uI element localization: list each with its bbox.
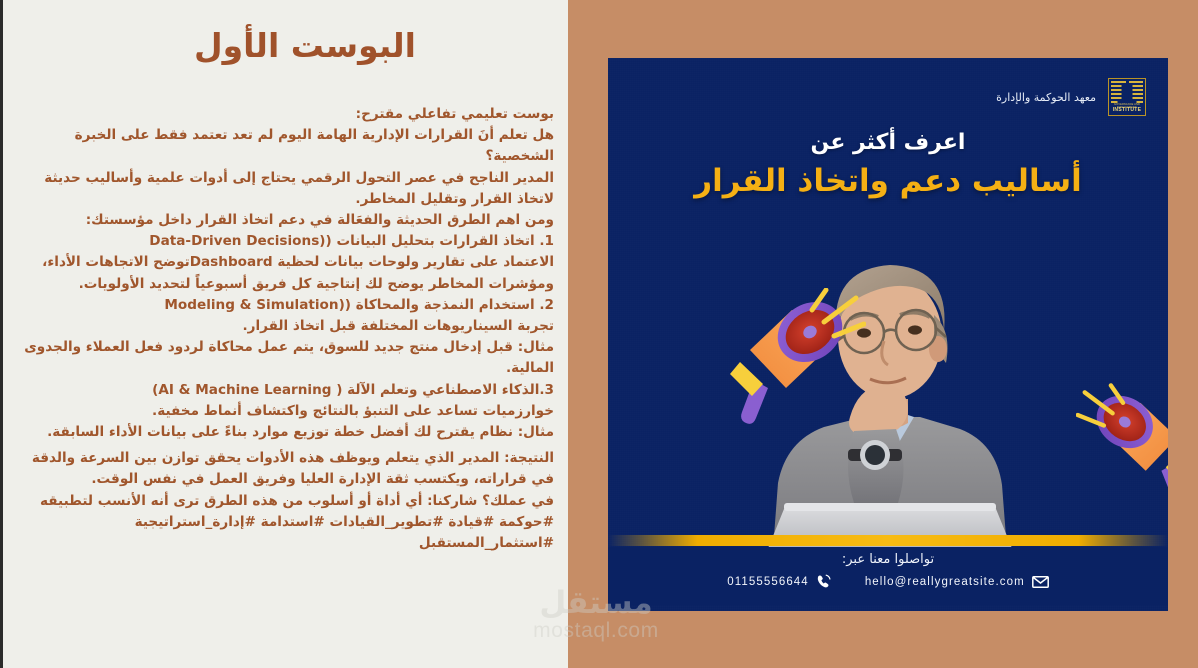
contact-phone-text: 01155556644 [727,576,809,588]
contact-phone-item[interactable]: 01155556644 [727,574,831,589]
person-watch-face [865,445,885,465]
caption-hashtags-line: #استثمار_المستقبل [10,533,554,554]
logo-institute-word: INSTITUTE [1110,107,1144,113]
poster-header: GOVERNANCE AND MANAGEMENT INSTITUTE معهد… [630,78,1146,116]
caption-panel: البوست الأول بوست تعليمي تفاعلي مقترح: ه… [0,0,568,668]
caption-body: بوست تعليمي تفاعلي مقترح: هل تعلم أنَ ال… [10,104,554,554]
caption-line: خوارزميات تساعد على التنبؤ بالنتائج واكت… [10,401,554,422]
caption-line: هل تعلم أنَ القرارات الإدارية الهامة الي… [10,125,554,167]
caption-line: بوست تعليمي تفاعلي مقترح: [10,104,554,125]
institute-name: معهد الحوكمة والإدارة [996,91,1096,104]
poster-headline-block: اعرف أكثر عن أساليب دعم واتخاذ القرار [608,130,1168,199]
poster-contact-footer: تواصلوا معنا عبر: hello@reallygreatsite.… [608,547,1168,605]
megaphone-icon-left [726,288,866,438]
contact-title: تواصلوا معنا عبر: [608,552,1168,567]
contact-row: hello@reallygreatsite.com 01155556644 [608,574,1168,589]
caption-line: 3.الذكاء الاصطناعي وتعلم الآلة ( AI & Ma… [10,380,554,401]
poster-kicker: اعرف أكثر عن [608,130,1168,155]
person-ear [929,336,947,362]
envelope-icon [1032,576,1049,588]
caption-line: 2. استخدام النمذجة والمحاكاة ((Modeling … [10,295,554,316]
caption-line: مثال: قبل إدخال منتج جديد للسوق، يتم عمل… [10,337,554,379]
megaphone-handle [1161,464,1168,502]
caption-line: ومن اهم الطرق الحديثة والفعَالة في دعم ا… [10,210,554,231]
caption-line: 1. اتخاذ القرارات بتحليل البيانات ((Data… [10,231,554,252]
caption-line: المدير الناجح في عصر التحول الرقمي يحتاج… [10,168,554,210]
logo-tower-shape [1122,85,1133,104]
caption-hashtags-line: #حوكمة #قيادة #تطوير_القيادات #استدامة #… [10,512,554,533]
page-title: البوست الأول [194,26,416,65]
poster-stage: GOVERNANCE AND MANAGEMENT INSTITUTE معهد… [568,0,1198,668]
institute-building-logo: GOVERNANCE AND MANAGEMENT INSTITUTE [1108,78,1146,116]
contact-email-text: hello@reallygreatsite.com [865,576,1025,588]
page-root: GOVERNANCE AND MANAGEMENT INSTITUTE معهد… [0,0,1198,668]
social-poster[interactable]: GOVERNANCE AND MANAGEMENT INSTITUTE معهد… [608,58,1168,611]
laptop-lid-edge [784,503,996,511]
caption-line: الاعتماد على تقارير ولوحات بيانات لحظية … [10,252,554,294]
caption-line: النتيجة: المدير الذي يتعلم ويوظف هذه الأ… [10,448,554,490]
phone-icon [816,574,831,589]
megaphone-icon-right [1076,383,1168,515]
gold-divider-bar [608,535,1168,546]
caption-line: مثال: نظام يقترح لك أفضل خطة توزيع موارد… [10,422,554,443]
caption-line: تجربة السيناريوهات المختلفة قبل اتخاذ ال… [10,316,554,337]
left-edge-strip [0,0,3,668]
poster-headline: أساليب دعم واتخاذ القرار [608,163,1168,199]
caption-line: في عملك؟ شاركنا: أي أداة أو أسلوب من هذه… [10,491,554,512]
contact-email-item[interactable]: hello@reallygreatsite.com [865,576,1049,588]
person-eye-right [908,325,922,334]
